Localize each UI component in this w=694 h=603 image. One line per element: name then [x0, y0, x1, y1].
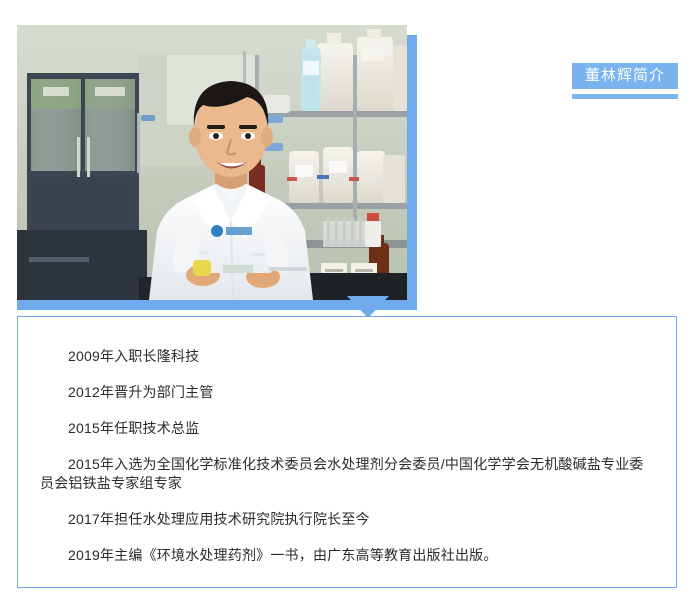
section-title-badge: 董林辉简介 [572, 63, 678, 89]
section-title-underline [572, 94, 678, 99]
bio-line: 2009年入职长隆科技 [40, 347, 654, 366]
bio-card: 2009年入职长隆科技 2012年晋升为部门主管 2015年任职技术总监 201… [17, 316, 677, 588]
bio-line: 2017年担任水处理应用技术研究院执行院长至今 [40, 510, 654, 529]
callout-pointer-triangle-icon [347, 296, 389, 318]
bio-line: 2015年入选为全国化学标准化技术委员会水处理剂分会委员/中国化学学会无机酸碱盐… [40, 455, 654, 493]
photo-accent-bar-right [407, 35, 417, 310]
profile-photo [17, 25, 407, 300]
bio-card-content: 2009年入职长隆科技 2012年晋升为部门主管 2015年任职技术总监 201… [18, 317, 676, 565]
bio-line: 2019年主编《环境水处理药剂》一书，由广东高等教育出版社出版。 [40, 546, 654, 565]
profile-photo-block [17, 25, 407, 300]
section-title-block: 董林辉简介 [572, 63, 678, 99]
bio-line: 2012年晋升为部门主管 [40, 383, 654, 402]
bio-line: 2015年任职技术总监 [40, 419, 654, 438]
